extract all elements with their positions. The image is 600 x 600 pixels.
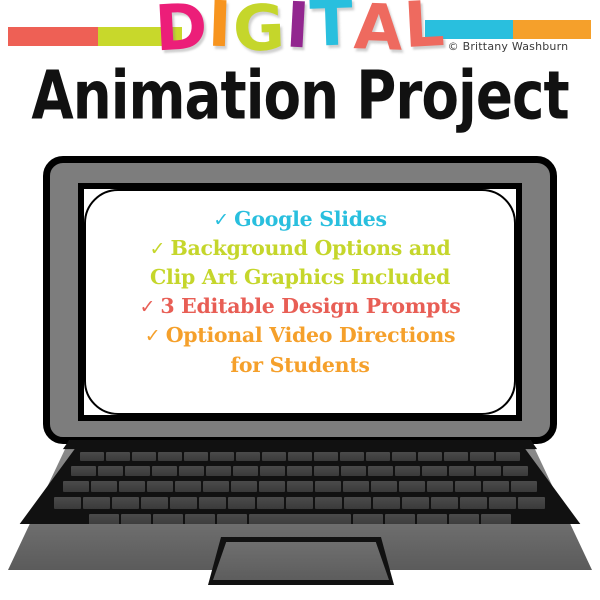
check-icon: ✓ [213,209,234,231]
laptop-base [8,440,592,570]
keyboard-key [106,452,130,461]
keyboard-key [444,452,468,461]
keyboard-key [344,497,371,509]
keyboard-key [112,497,139,509]
feature-item-3: ✓3 Editable Design Prompts [96,292,504,321]
keyboard-key [343,481,369,492]
keyboard-key [152,466,177,476]
laptop-lid: ✓Google Slides✓Background Options andCli… [43,156,557,444]
keyboard-key [206,466,231,476]
keyboard-key [373,497,400,509]
keyboard-row-4 [31,497,568,509]
keyboard-key [341,466,366,476]
keyboard-key [184,452,208,461]
keyboard-key [170,497,197,509]
keyboard-row-1 [72,452,528,461]
keyboard-key [262,452,286,461]
keyboard-key [287,481,313,492]
keyboard-key [54,497,81,509]
keyboard-key [496,452,520,461]
keyboard-key [63,481,89,492]
keyboard-key [288,452,312,461]
feature-label: Google Slides [234,207,387,231]
keyboard-key [228,497,255,509]
keyboard-key [147,481,173,492]
keyboard-key [503,466,528,476]
keyboard-key [366,452,390,461]
keyboard-key [71,466,96,476]
keyboard-key [257,497,284,509]
laptop-bezel-inner: ✓Google Slides✓Background Options andCli… [78,183,522,421]
laptop-trackpad [208,537,394,585]
feature-item-2-continuation: Clip Art Graphics Included [96,263,504,292]
feature-list: ✓Google Slides✓Background Options andCli… [86,205,514,380]
keyboard-key [431,497,458,509]
keyboard-key [141,497,168,509]
laptop-screen: ✓Google Slides✓Background Options andCli… [84,189,516,415]
keyboard-key [203,481,229,492]
keyboard-key [260,466,285,476]
keyboard-key [236,452,260,461]
keyboard-key [422,466,447,476]
keyboard-key [395,466,420,476]
keyboard-key [476,466,501,476]
keyboard-key [287,466,312,476]
check-icon: ✓ [139,296,160,318]
keyboard-key [125,466,150,476]
keyboard-key [392,452,416,461]
keyboard-row-3 [46,481,554,492]
feature-item-4: ✓Optional Video Directions [96,321,504,350]
feature-label: Optional Video Directions [166,323,456,347]
keyboard-key [259,481,285,492]
keyboard-key [427,481,453,492]
keyboard-key [132,452,156,461]
keyboard-key [314,452,338,461]
check-icon: ✓ [145,325,166,347]
feature-item-2: ✓Background Options and [96,234,504,263]
keyboard-key [518,497,545,509]
keyboard-key [511,481,537,492]
keyboard-key [418,452,442,461]
feature-label: 3 Editable Design Prompts [160,294,460,318]
keyboard-key [233,466,258,476]
keyboard-key [399,481,425,492]
keyboard-key [80,452,104,461]
keyboard-key [119,481,145,492]
keyboard-key [470,452,494,461]
poster-canvas: DIGITAL © Brittany Washburn Animation Pr… [0,0,600,600]
keyboard-row-2 [61,466,540,476]
laptop-illustration: ✓Google Slides✓Background Options andCli… [0,0,600,600]
keyboard-key [455,481,481,492]
keyboard-key [91,481,117,492]
keyboard-key [199,497,226,509]
keyboard-key [314,466,339,476]
feature-item-4-continuation: for Students [96,351,504,380]
keyboard-key [175,481,201,492]
keyboard-key [368,466,393,476]
laptop-trackpad-surface [213,542,389,580]
keyboard-key [402,497,429,509]
keyboard-key [483,481,509,492]
keyboard-key [315,497,342,509]
keyboard-key [210,452,234,461]
feature-item-1: ✓Google Slides [96,205,504,234]
check-icon: ✓ [150,238,171,260]
keyboard-key [340,452,364,461]
keyboard-key [449,466,474,476]
keyboard-key [286,497,313,509]
feature-label: Background Options and [170,236,450,260]
keyboard-key [460,497,487,509]
keyboard-key [158,452,182,461]
keyboard-key [179,466,204,476]
keyboard-key [98,466,123,476]
keyboard-key [83,497,110,509]
laptop-keyboard [8,446,592,524]
keyboard-key [231,481,257,492]
keyboard-key [489,497,516,509]
keyboard-key [315,481,341,492]
keyboard-key [371,481,397,492]
